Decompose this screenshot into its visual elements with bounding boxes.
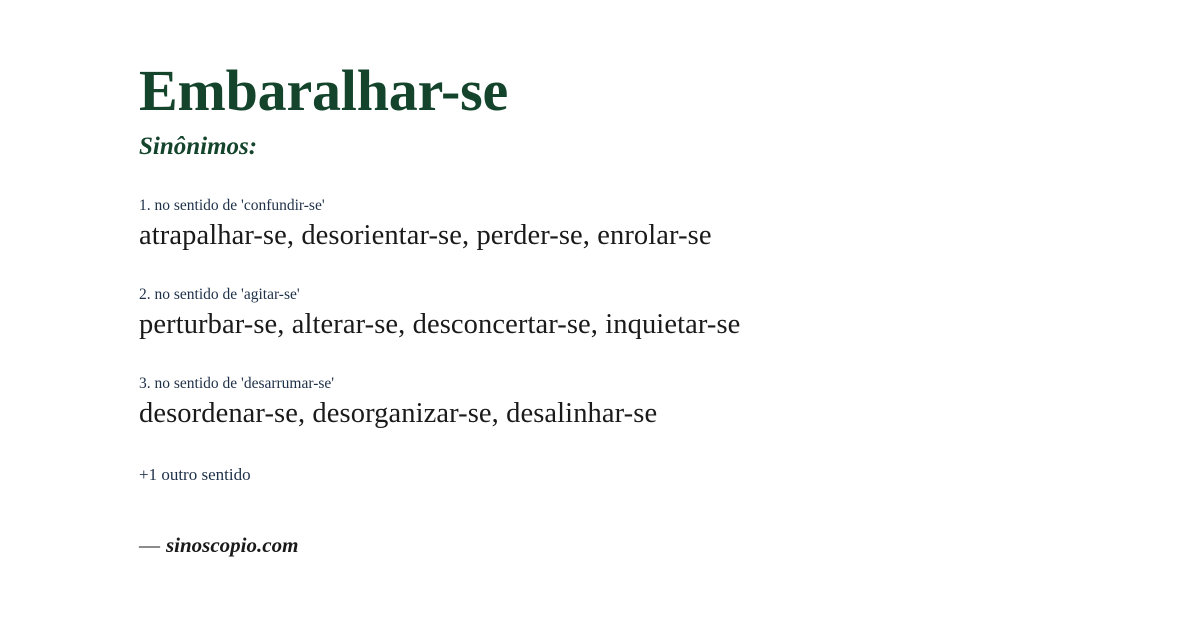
source-name: sinoscopio.com bbox=[166, 533, 298, 557]
sense-entry-1: 1. no sentido de 'confundir-se' atrapalh… bbox=[139, 196, 1159, 253]
sense-entry-3: 3. no sentido de 'desarrumar-se' desorde… bbox=[139, 374, 1159, 431]
sense-synonyms: desordenar-se, desorganizar-se, desalinh… bbox=[139, 397, 1159, 431]
sense-label: 1. no sentido de 'confundir-se' bbox=[139, 196, 1159, 216]
sense-synonyms: perturbar-se, alterar-se, desconcertar-s… bbox=[139, 308, 1159, 342]
attribution: —sinoscopio.com bbox=[139, 533, 298, 558]
page-title: Embaralhar-se bbox=[139, 60, 508, 121]
sense-label: 2. no sentido de 'agitar-se' bbox=[139, 285, 1159, 305]
sense-entry-2: 2. no sentido de 'agitar-se' perturbar-s… bbox=[139, 285, 1159, 342]
section-subtitle: Sinônimos: bbox=[139, 133, 257, 161]
em-dash-icon: — bbox=[139, 533, 160, 557]
sense-synonyms: atrapalhar-se, desorientar-se, perder-se… bbox=[139, 219, 1159, 253]
sense-label: 3. no sentido de 'desarrumar-se' bbox=[139, 374, 1159, 394]
synonym-card: Embaralhar-se Sinônimos: 1. no sentido d… bbox=[0, 0, 1200, 628]
sense-list: 1. no sentido de 'confundir-se' atrapalh… bbox=[139, 196, 1159, 463]
more-senses-note: +1 outro sentido bbox=[139, 464, 251, 485]
